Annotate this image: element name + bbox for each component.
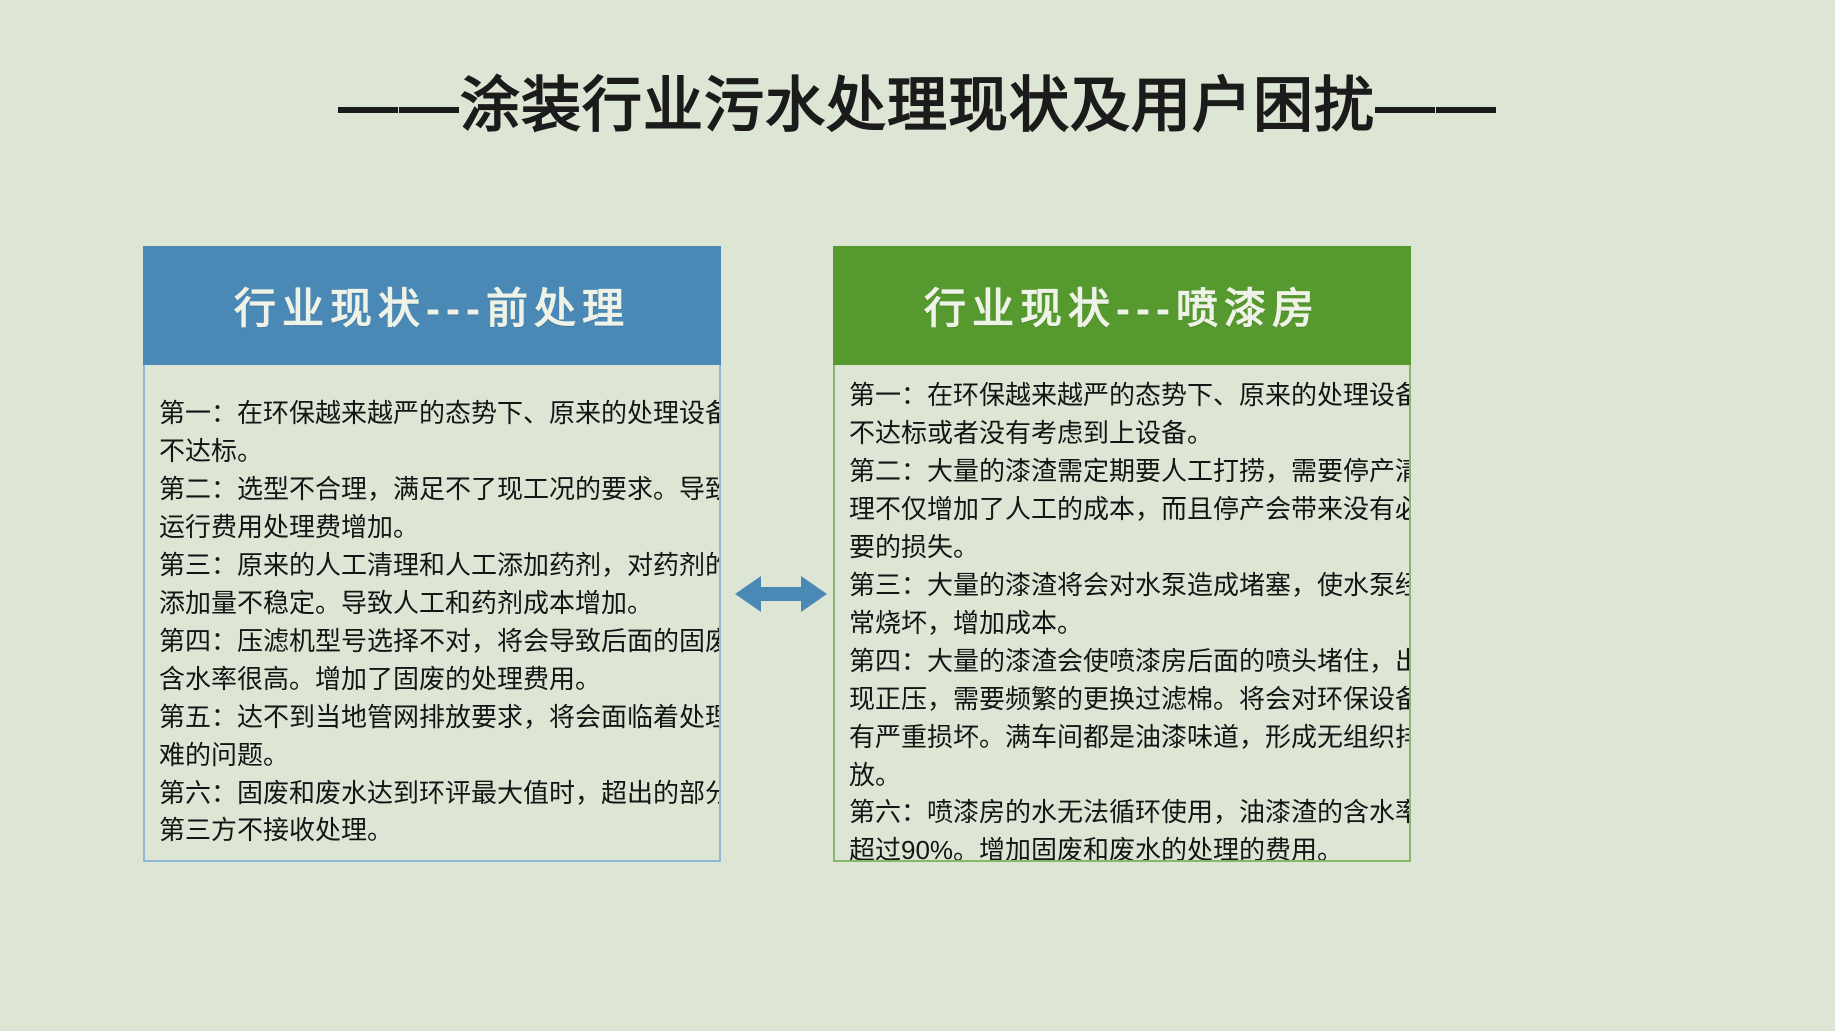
body-line: 超过90%。增加固废和废水的处理的费用。 bbox=[849, 832, 1395, 862]
body-line: 第五：达不到当地管网排放要求，将会面临着处理 bbox=[159, 699, 705, 737]
body-line: 第二：大量的漆渣需定期要人工打捞，需要停产清 bbox=[849, 453, 1395, 491]
body-line: 现正压，需要频繁的更换过滤棉。将会对环保设备 bbox=[849, 681, 1395, 719]
panel-pretreatment-header-label: 行业现状---前处理 bbox=[234, 275, 630, 336]
body-line: 第六：喷漆房的水无法循环使用，油漆渣的含水率 bbox=[849, 794, 1395, 832]
body-line: 运行费用处理费增加。 bbox=[159, 509, 705, 547]
panel-pretreatment-body: 第一：在环保越来越严的态势下、原来的处理设备 不达标。 第二：选型不合理，满足不… bbox=[143, 365, 721, 862]
body-line: 含水率很高。增加了固废的处理费用。 bbox=[159, 661, 705, 699]
page-title: ——涂装行业污水处理现状及用户困扰—— bbox=[0, 68, 1835, 143]
double-headed-arrow-icon bbox=[735, 570, 827, 618]
body-line: 第四：大量的漆渣会使喷漆房后面的喷头堵住，出 bbox=[849, 643, 1395, 681]
connector-arrow bbox=[735, 570, 827, 618]
body-line: 难的问题。 bbox=[159, 737, 705, 775]
body-line: 添加量不稳定。导致人工和药剂成本增加。 bbox=[159, 585, 705, 623]
panel-spray-booth-header-label: 行业现状---喷漆房 bbox=[924, 275, 1320, 336]
body-line: 不达标。 bbox=[159, 433, 705, 471]
panel-spray-booth-header: 行业现状---喷漆房 bbox=[833, 246, 1411, 365]
body-line: 第三：大量的漆渣将会对水泵造成堵塞，使水泵经 bbox=[849, 567, 1395, 605]
body-line: 第四：压滤机型号选择不对，将会导致后面的固废 bbox=[159, 623, 705, 661]
body-line: 不达标或者没有考虑到上设备。 bbox=[849, 415, 1395, 453]
body-line: 常烧坏，增加成本。 bbox=[849, 605, 1395, 643]
body-line: 第三：原来的人工清理和人工添加药剂，对药剂的 bbox=[159, 547, 705, 585]
body-line: 第一：在环保越来越严的态势下、原来的处理设备 bbox=[159, 395, 705, 433]
body-line: 第三方不接收处理。 bbox=[159, 812, 705, 850]
body-line: 第一：在环保越来越严的态势下、原来的处理设备 bbox=[849, 377, 1395, 415]
body-line: 第六：固废和废水达到环评最大值时，超出的部分 bbox=[159, 775, 705, 813]
body-line: 有严重损坏。满车间都是油漆味道，形成无组织排 bbox=[849, 719, 1395, 757]
panel-pretreatment: 行业现状---前处理 第一：在环保越来越严的态势下、原来的处理设备 不达标。 第… bbox=[143, 246, 721, 862]
panel-pretreatment-header: 行业现状---前处理 bbox=[143, 246, 721, 365]
body-line: 放。 bbox=[849, 757, 1395, 795]
body-line: 要的损失。 bbox=[849, 529, 1395, 567]
body-line: 第二：选型不合理，满足不了现工况的要求。导致 bbox=[159, 471, 705, 509]
body-line: 理不仅增加了人工的成本，而且停产会带来没有必 bbox=[849, 491, 1395, 529]
panel-spray-booth: 行业现状---喷漆房 第一：在环保越来越严的态势下、原来的处理设备 不达标或者没… bbox=[833, 246, 1411, 862]
panel-spray-booth-body: 第一：在环保越来越严的态势下、原来的处理设备 不达标或者没有考虑到上设备。 第二… bbox=[833, 365, 1411, 862]
